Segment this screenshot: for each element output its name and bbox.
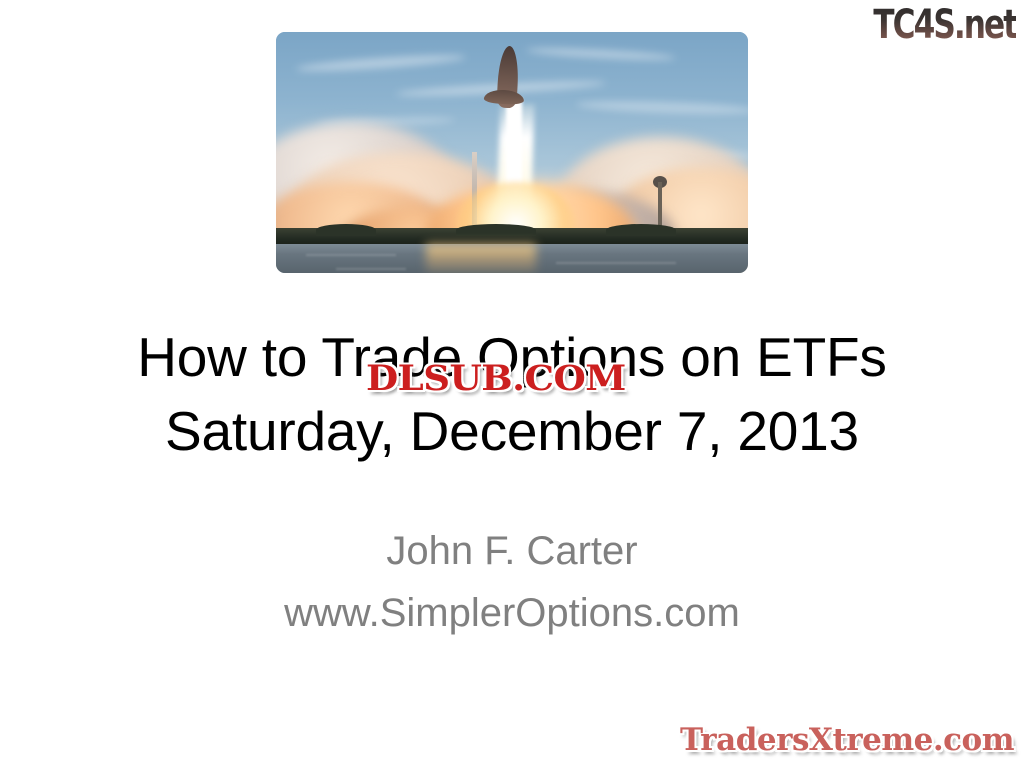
watermark-dlsub: DLSUB.COM (366, 358, 626, 399)
slide-subtitle: John F. Carter www.SimplerOptions.com (0, 520, 1024, 644)
water-streak (556, 262, 676, 264)
presenter-website: www.SimplerOptions.com (0, 582, 1024, 644)
presentation-slide: How to Trade Options on ETFs Saturday, D… (0, 0, 1024, 768)
water-reflection (426, 244, 536, 273)
slide-title-line-2: Saturday, December 7, 2013 (0, 394, 1024, 468)
watermark-tc4s: TC4S.net (873, 2, 1016, 48)
presenter-name: John F. Carter (0, 520, 1024, 582)
shuttle-launch-image-content (276, 32, 748, 273)
tree-line-bump (606, 224, 676, 236)
watermark-tradersxtreme: TradersXtreme.com (680, 722, 1014, 758)
water-streak (336, 268, 406, 270)
tree-line-bump (456, 224, 536, 236)
water-streak (306, 254, 396, 256)
shuttle-launch-image (276, 32, 748, 273)
tree-line-bump (316, 224, 376, 236)
